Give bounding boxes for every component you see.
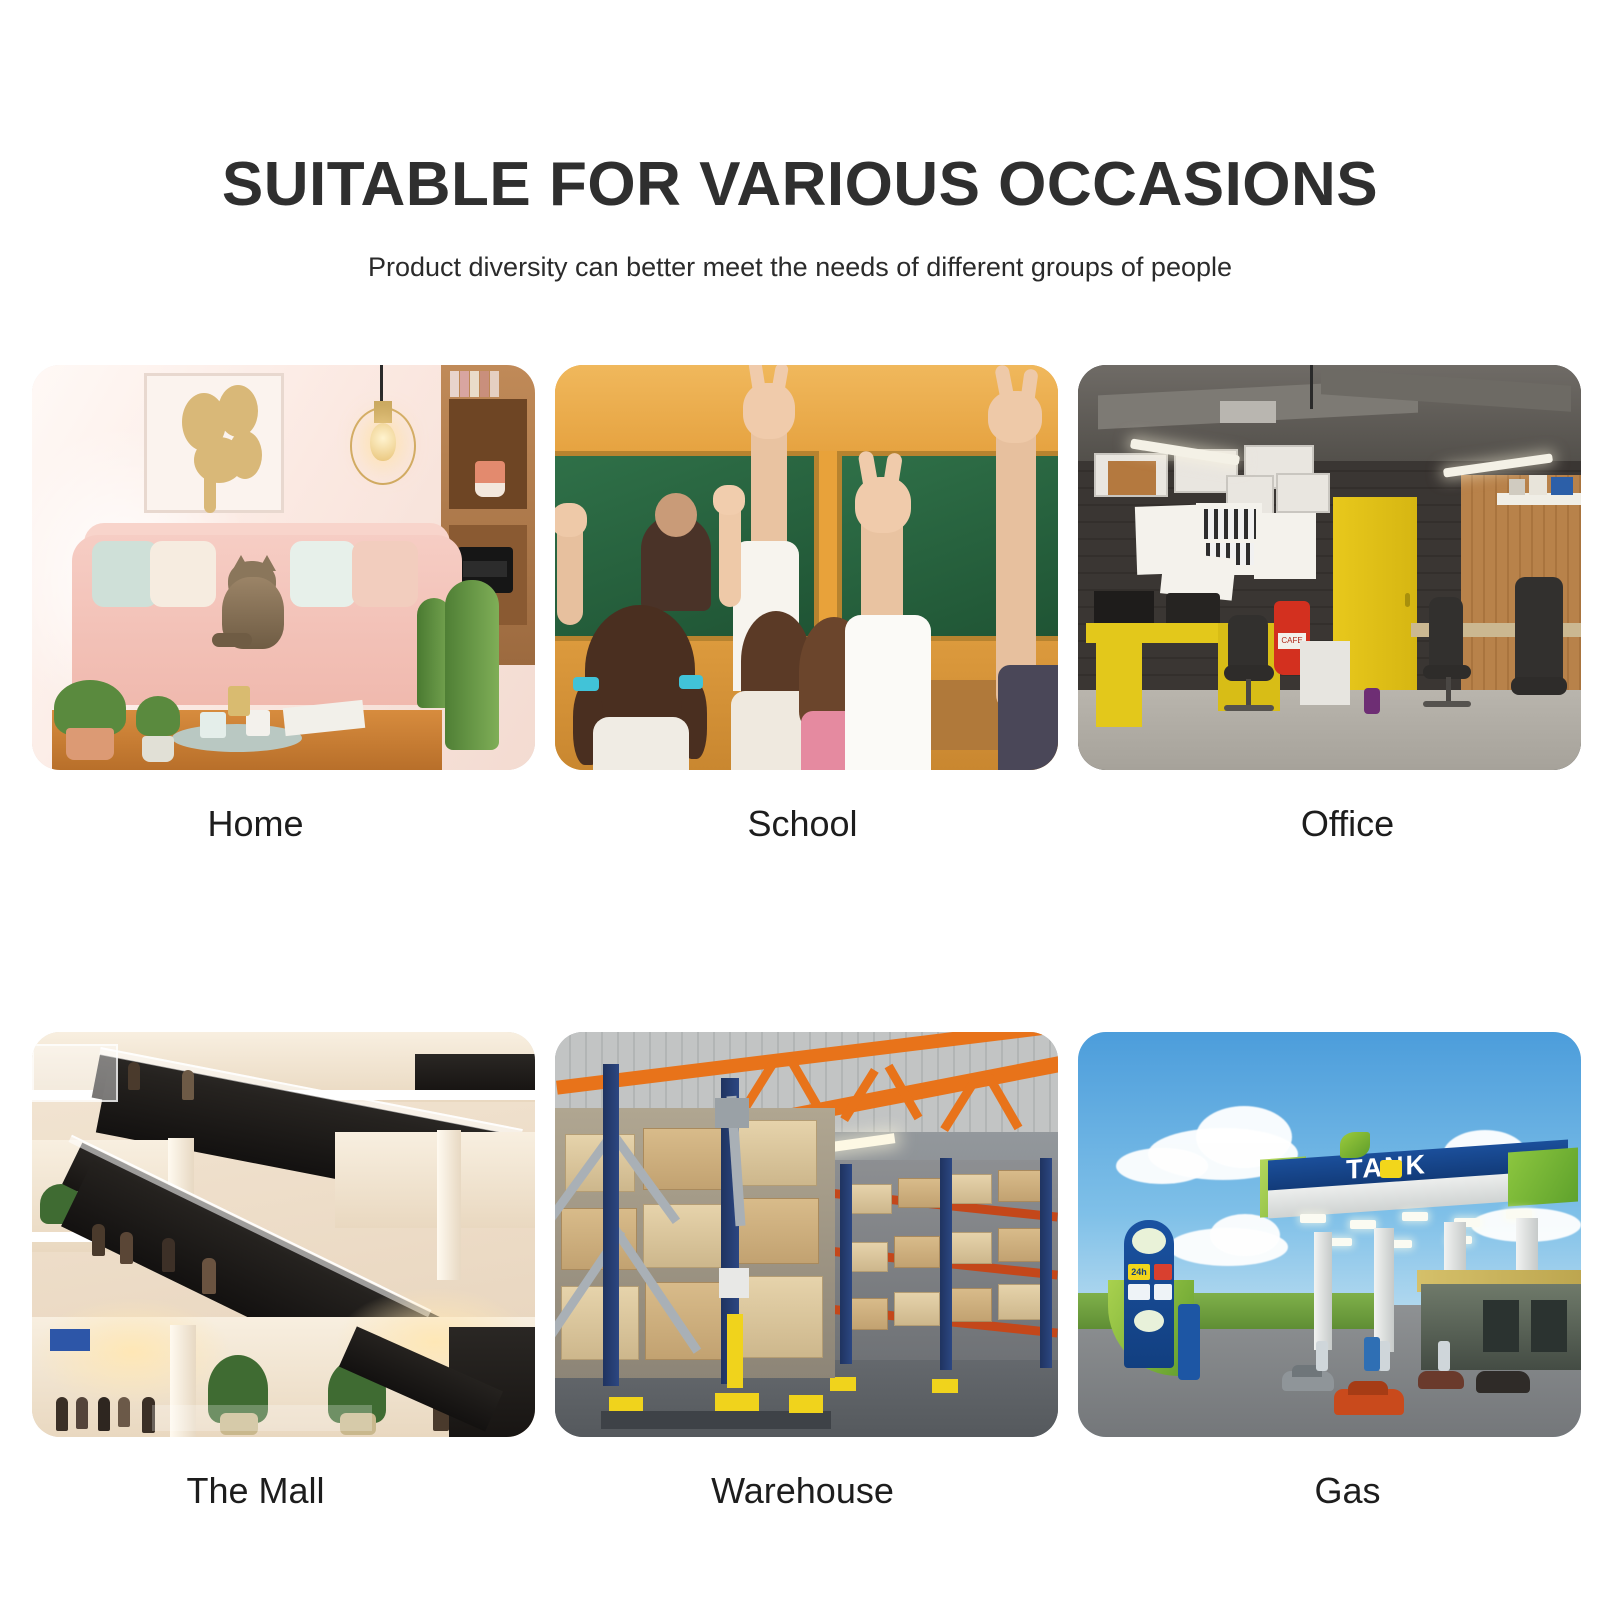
home-caption: Home	[32, 806, 535, 842]
gas-caption: Gas	[1078, 1473, 1581, 1509]
occasion-card-warehouse[interactable]: Warehouse	[555, 1032, 1058, 1509]
mall-caption: The Mall	[32, 1473, 535, 1509]
occasion-card-office[interactable]: CAFE	[1078, 365, 1581, 842]
occasion-card-school[interactable]: School	[555, 365, 1058, 842]
occasion-card-home[interactable]: Home	[32, 365, 535, 842]
infographic-page: SUITABLE FOR VARIOUS OCCASIONS Product d…	[0, 0, 1600, 1600]
occasion-grid: Home	[32, 365, 1568, 1509]
warehouse-caption: Warehouse	[555, 1473, 1058, 1509]
occasion-card-gas[interactable]: TANK	[1078, 1032, 1581, 1509]
mall-image	[32, 1032, 535, 1437]
occasion-card-mall[interactable]: The Mall	[32, 1032, 535, 1509]
school-caption: School	[555, 806, 1058, 842]
page-subtitle: Product diversity can better meet the ne…	[0, 252, 1600, 283]
gas-image: TANK	[1078, 1032, 1581, 1437]
warehouse-image	[555, 1032, 1058, 1437]
office-image: CAFE	[1078, 365, 1581, 770]
home-image	[32, 365, 535, 770]
grid-row-1: Home	[32, 365, 1568, 842]
office-caption: Office	[1078, 806, 1581, 842]
school-image	[555, 365, 1058, 770]
gas-24h-badge: 24h	[1128, 1264, 1150, 1280]
grid-row-2: The Mall	[32, 1032, 1568, 1509]
page-title: SUITABLE FOR VARIOUS OCCASIONS	[0, 152, 1600, 217]
